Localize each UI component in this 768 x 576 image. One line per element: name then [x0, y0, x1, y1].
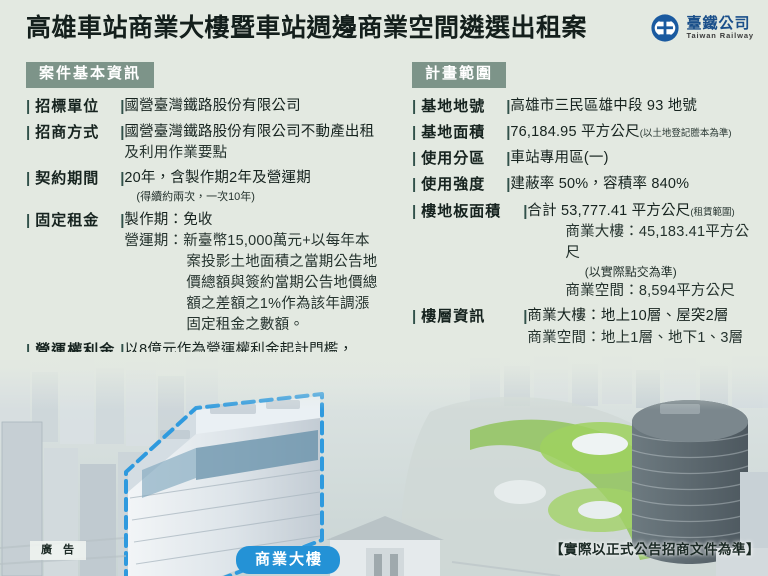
page-header: 高雄車站商業大樓暨車站週邊商業空間遴選出租案 臺鐵公司 Taiwan Railw… [0, 0, 768, 56]
row-value-line-1: 國營臺灣鐵路股份有限公司不動產出租 [124, 124, 374, 140]
row-separator-mid: | [501, 147, 510, 170]
row-value: 製作期：免收 營運期：新臺幣15,000萬元+以每年本 案投影土地面積之當期公告… [124, 209, 411, 337]
row-label: 基地地號 [421, 95, 501, 118]
row-separator-left: | [26, 121, 35, 144]
row-separator-left: | [412, 147, 421, 170]
row-value-line-1: 20年，含製作期2年及營運期 [124, 170, 311, 186]
disclaimer-text: 【實際以正式公告招商文件為準】 [550, 538, 760, 558]
row-contract-period: | 契約期間 | 20年，含製作期2年及營運期 (得續約兩次，一次10年) [26, 167, 411, 205]
row-label: 固定租金 [35, 209, 115, 232]
row-separator-mid: | [115, 95, 124, 118]
row-value: 76,184.95 平方公尺(以土地登記謄本為準) [510, 121, 760, 143]
row-value-note-2: (以實際點交為準) [527, 264, 760, 281]
row-value-line-4: 價總額與簽約當期公告地價總 [124, 273, 411, 294]
row-value-line-2: 及利用作業要點 [124, 143, 411, 164]
commercial-building-label: 商業大樓 [236, 546, 340, 575]
row-bidding-unit: | 招標單位 | 國營臺灣鐵路股份有限公司 [26, 95, 411, 118]
row-separator-left: | [412, 200, 421, 223]
row-label: 契約期間 [35, 167, 115, 190]
brand-name-en: Taiwan Railway [687, 32, 754, 40]
row-floor-info: | 樓層資訊 | 商業大樓：地上10層、屋突2層 商業空間：地上1層、地下1、3… [412, 305, 760, 348]
row-zoning: | 使用分區 | 車站專用區(一) [412, 147, 760, 170]
row-value: 高雄市三民區雄中段 93 地號 [510, 95, 760, 117]
row-separator-mid: | [115, 167, 124, 190]
row-value: 國營臺灣鐵路股份有限公司 [124, 95, 411, 117]
row-label: 樓層資訊 [421, 305, 518, 328]
taiwan-railway-emblem-icon [650, 13, 680, 43]
row-value-note: (以土地登記謄本為準) [640, 128, 732, 139]
row-separator-left: | [412, 121, 421, 144]
row-separator-left: | [26, 209, 35, 232]
row-land-lot-number: | 基地地號 | 高雄市三民區雄中段 93 地號 [412, 95, 760, 118]
row-label: 招商方式 [35, 121, 115, 144]
row-separator-mid: | [518, 305, 527, 328]
left-section-badge: 案件基本資訊 [26, 62, 154, 88]
row-value-line-6: 固定租金之數額。 [124, 315, 411, 336]
row-separator-mid: | [115, 121, 124, 144]
page-title: 高雄車站商業大樓暨車站週邊商業空間遴選出租案 [26, 16, 587, 41]
row-value-line-1: 商業大樓：地上10層、屋突2層 [527, 308, 728, 324]
row-value-note: (得續約兩次，一次10年) [124, 190, 411, 206]
row-separator-mid: | [501, 95, 510, 118]
row-floor-area: | 樓地板面積 | 合計 53,777.41 平方公尺(租賃範圍) 商業大樓：4… [412, 200, 760, 303]
row-label: 樓地板面積 [421, 200, 518, 223]
row-solicitation-method: | 招商方式 | 國營臺灣鐵路股份有限公司不動產出租 及利用作業要點 [26, 121, 411, 164]
left-column: 案件基本資訊 | 招標單位 | 國營臺灣鐵路股份有限公司 | 招商方式 | 國營… [26, 62, 411, 386]
row-value: 20年，含製作期2年及營運期 (得續約兩次，一次10年) [124, 167, 411, 205]
row-value-line-3: 案投影土地面積之當期公告地 [124, 252, 411, 273]
row-value-line-1: 76,184.95 平方公尺 [510, 124, 639, 140]
row-separator-mid: | [501, 173, 510, 196]
row-land-area: | 基地面積 | 76,184.95 平方公尺(以土地登記謄本為準) [412, 121, 760, 144]
row-separator-left: | [26, 95, 35, 118]
row-value-line-2: 營運期：新臺幣15,000萬元+以每年本 [124, 231, 411, 252]
row-label: 使用強度 [421, 173, 501, 196]
row-separator-left: | [26, 167, 35, 190]
row-value-line-1: 合計 53,777.41 平方公尺 [527, 203, 690, 219]
row-separator-left: | [412, 95, 421, 118]
row-separator-left: | [412, 305, 421, 328]
row-value: 建蔽率 50%，容積率 840% [510, 173, 760, 195]
row-use-intensity: | 使用強度 | 建蔽率 50%，容積率 840% [412, 173, 760, 196]
row-label: 基地面積 [421, 121, 501, 144]
row-value: 車站專用區(一) [510, 147, 760, 169]
aerial-rendering-photo: 廣 告 商業大樓 【實際以正式公告招商文件為準】 [0, 352, 768, 576]
poster-root: 高雄車站商業大樓暨車站週邊商業空間遴選出租案 臺鐵公司 Taiwan Railw… [0, 0, 768, 576]
row-label: 使用分區 [421, 147, 501, 170]
right-section-badge: 計畫範圍 [412, 62, 506, 88]
row-fixed-rent: | 固定租金 | 製作期：免收 營運期：新臺幣15,000萬元+以每年本 案投影… [26, 209, 411, 337]
brand-name-cn: 臺鐵公司 [687, 16, 754, 32]
row-value: 合計 53,777.41 平方公尺(租賃範圍) 商業大樓：45,183.41平方… [527, 200, 760, 303]
advertisement-badge: 廣 告 [30, 541, 86, 560]
row-value-line-1: 製作期：免收 [124, 212, 212, 228]
row-value: 商業大樓：地上10層、屋突2層 商業空間：地上1層、地下1、3層 [527, 305, 760, 348]
row-separator-mid: | [518, 200, 527, 223]
row-value-line-3: 商業空間：8,594平方公尺 [527, 281, 760, 302]
row-separator-left: | [412, 173, 421, 196]
row-value-line-2: 商業大樓：45,183.41平方公尺 [527, 222, 760, 264]
row-value-line-2: 商業空間：地上1層、地下1、3層 [527, 328, 760, 349]
row-value-line-5: 額之差額之1%作為該年調漲 [124, 294, 411, 315]
right-column: 計畫範圍 | 基地地號 | 高雄市三民區雄中段 93 地號 | 基地面積 | 7… [412, 62, 760, 352]
row-label: 招標單位 [35, 95, 115, 118]
brand-logo: 臺鐵公司 Taiwan Railway [650, 13, 754, 43]
row-value: 國營臺灣鐵路股份有限公司不動產出租 及利用作業要點 [124, 121, 411, 164]
row-separator-mid: | [501, 121, 510, 144]
brand-text: 臺鐵公司 Taiwan Railway [687, 16, 754, 40]
row-separator-mid: | [115, 209, 124, 232]
row-value-note: (租賃範圍) [690, 207, 734, 218]
